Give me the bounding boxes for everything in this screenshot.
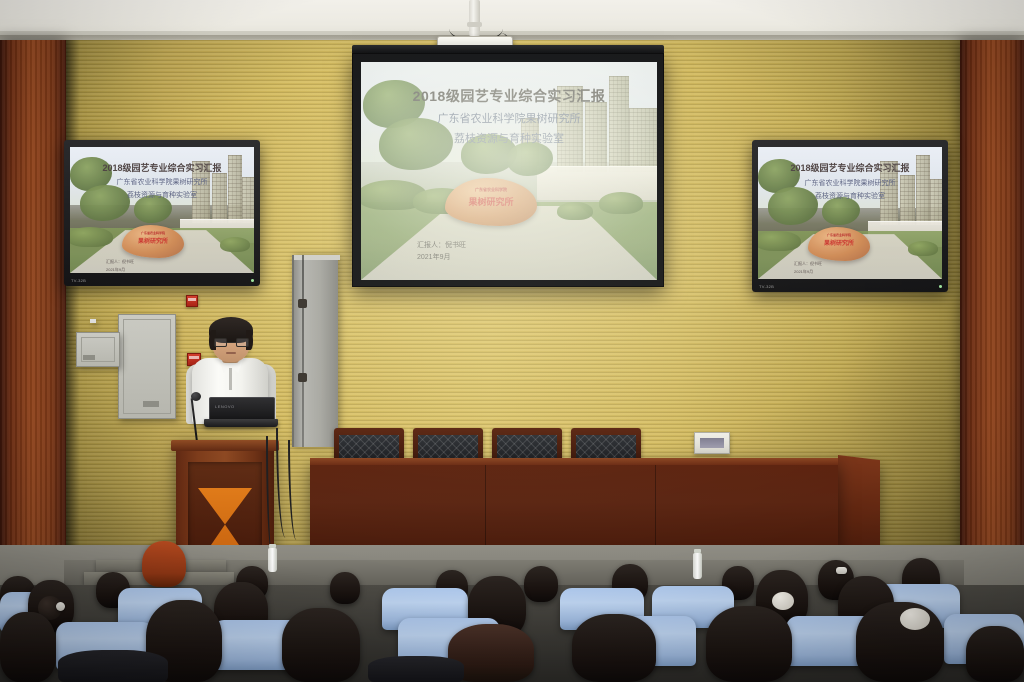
door-header-trim — [294, 255, 340, 260]
hair-scrunchie-r2-4 — [772, 592, 794, 610]
service-door[interactable] — [292, 255, 338, 447]
glasses-lens-left — [214, 338, 227, 347]
stage-chair-1[interactable] — [334, 428, 404, 461]
audience-head-r4-5 — [706, 606, 792, 682]
left-monitor-slide: 广东省农业科学院 果树研究所 2018级园艺专业综合实习汇报 广东省农业科学院果… — [70, 147, 254, 273]
audience-shoulder-r4-0 — [58, 650, 168, 682]
water-bottle-left[interactable] — [268, 548, 277, 572]
slide-institute-rock: 广东省农业科学院 果树研究所 — [122, 225, 184, 258]
air-outlet-grille — [700, 438, 724, 448]
left-wood-column — [0, 40, 66, 585]
slide-presenter-line: 汇报人：倪书旺 — [794, 261, 822, 267]
hair-clip-r2-1 — [56, 602, 65, 611]
slide-subtitle-line-1: 广东省农业科学院果树研究所 — [70, 177, 254, 187]
electrical-access-panel-large[interactable] — [118, 314, 176, 419]
slide-subtitle-line-2: 荔枝资源与育种实验室 — [70, 190, 254, 200]
right-monitor-power-led — [939, 285, 942, 288]
audience-head-r1-4 — [330, 572, 360, 604]
rock-inscription-top: 广东省农业科学院 — [475, 188, 507, 192]
door-seam — [302, 255, 304, 447]
panel-inner-frame — [123, 319, 171, 414]
fire-alarm-indicator-upper[interactable] — [186, 295, 198, 307]
stage-chair-3[interactable] — [492, 428, 562, 461]
left-column-shadow — [66, 40, 80, 585]
main-projection-screen: 广东省农业科学院 果树研究所 2018级园艺专业综合实习汇报 广东省农业科学院果… — [352, 53, 664, 287]
glasses-lens-right — [236, 338, 249, 347]
panel-vent-slot — [83, 355, 95, 360]
speaker-polo-placket — [229, 368, 232, 390]
speaker-mouth — [226, 352, 236, 354]
slide-hedge-left — [758, 231, 801, 251]
hair-clip-r1-9 — [836, 567, 847, 574]
right-wall-monitor: 广东省农业科学院 果树研究所 2018级园艺专业综合实习汇报 广东省农业科学院果… — [752, 140, 948, 292]
hair-scrunchie-r4-6 — [900, 608, 930, 630]
slide-presenter-line: 汇报人：倪书旺 — [106, 259, 134, 265]
panel-vent-slot — [143, 401, 159, 407]
audience-head-r4-7 — [966, 626, 1024, 682]
main-slide-surface: 广东省农业科学院 果树研究所 2018级园艺专业综合实习汇报 广东省农业科学院果… — [361, 62, 657, 280]
head-table — [310, 458, 838, 546]
rock-inscription-top: 广东省农业科学院 — [827, 234, 851, 237]
left-wall-monitor: 广东省农业科学院 果树研究所 2018级园艺专业综合实习汇报 广东省农业科学院果… — [64, 140, 260, 286]
podium-top-lip — [171, 440, 279, 451]
slide-presenter-line: 汇报人：倪书旺 — [417, 240, 466, 250]
electrical-access-panel-small[interactable] — [76, 332, 120, 367]
speaker-glasses — [214, 338, 249, 347]
rock-inscription-main: 果树研究所 — [824, 241, 854, 247]
slide-subtitle-line-1: 广东省农业科学院果树研究所 — [361, 110, 657, 126]
laptop-base[interactable] — [204, 419, 278, 427]
head-table-top-edge — [310, 458, 838, 465]
slide-hedge-right — [220, 237, 250, 252]
lecture-hall-photo: 广东省农业科学院 果树研究所 2018级园艺专业综合实习汇报 广东省农业科学院果… — [0, 0, 1024, 682]
audience-head-r1-2 — [142, 541, 186, 587]
rock-inscription-main: 果树研究所 — [138, 239, 168, 245]
bottle-cap — [694, 549, 701, 553]
bottle-cap — [269, 544, 276, 548]
microphone-head — [191, 392, 201, 401]
wall-air-outlet — [694, 432, 730, 454]
laptop-screen-lid: LENOVO — [209, 397, 275, 421]
slide-hedge-right — [908, 241, 938, 256]
slide-hedge-right — [599, 192, 643, 214]
head-table-right-return — [838, 455, 880, 552]
rock-inscription-main: 果树研究所 — [468, 198, 513, 207]
slide-date-line: 2021年9月 — [794, 269, 813, 275]
audience-head-r4-4 — [572, 614, 656, 682]
slide-subtitle-line-2: 荔枝资源与育种实验室 — [361, 130, 657, 146]
rock-inscription-top: 广东省农业科学院 — [141, 232, 165, 235]
audience-head-r4-2 — [282, 608, 360, 682]
slide-title: 2018级园艺专业综合实习汇报 — [758, 161, 942, 174]
laptop-brand-label: LENOVO — [215, 404, 235, 409]
right-monitor-slide: 广东省农业科学院 果树研究所 2018级园艺专业综合实习汇报 广东省农业科学院果… — [758, 147, 942, 279]
right-wood-column — [960, 40, 1024, 585]
audience-head-r4-6 — [856, 602, 944, 682]
stage-chair-4[interactable] — [571, 428, 641, 461]
slide-garden-wall — [537, 166, 657, 200]
left-monitor-power-led — [251, 279, 254, 282]
slide-hedge-left — [70, 227, 113, 247]
fire-alarm-strip — [188, 298, 196, 301]
door-handle-lower[interactable] — [298, 373, 307, 382]
water-bottle-right[interactable] — [693, 553, 702, 579]
head-table-seam-2 — [655, 465, 656, 546]
head-table-seam-1 — [485, 465, 486, 546]
panel-label-tag — [90, 319, 96, 323]
glasses-bridge — [227, 342, 236, 343]
door-handle-upper[interactable] — [298, 299, 307, 308]
slide-title: 2018级园艺专业综合实习汇报 — [361, 86, 657, 106]
stage-chair-2[interactable] — [413, 428, 483, 461]
audience-shoulder-r4-2 — [368, 656, 464, 682]
audience-head-r4-0 — [0, 612, 56, 682]
slide-hedge-right2 — [557, 202, 593, 220]
right-monitor-brand-label: TV-32B — [759, 284, 774, 289]
slide-date-line: 2021年9月 — [417, 252, 450, 262]
audience-head-r1-6 — [524, 566, 558, 602]
slide-institute-rock: 广东省农业科学院 果树研究所 — [808, 227, 870, 261]
slide-subtitle-line-1: 广东省农业科学院果树研究所 — [758, 178, 942, 188]
slide-title: 2018级园艺专业综合实习汇报 — [70, 161, 254, 174]
slide-date-line: 2021年9月 — [106, 267, 125, 273]
fire-alarm-strip — [189, 356, 199, 359]
slide-subtitle-line-2: 荔枝资源与育种实验室 — [758, 191, 942, 201]
left-monitor-brand-label: TV-32B — [71, 278, 86, 283]
